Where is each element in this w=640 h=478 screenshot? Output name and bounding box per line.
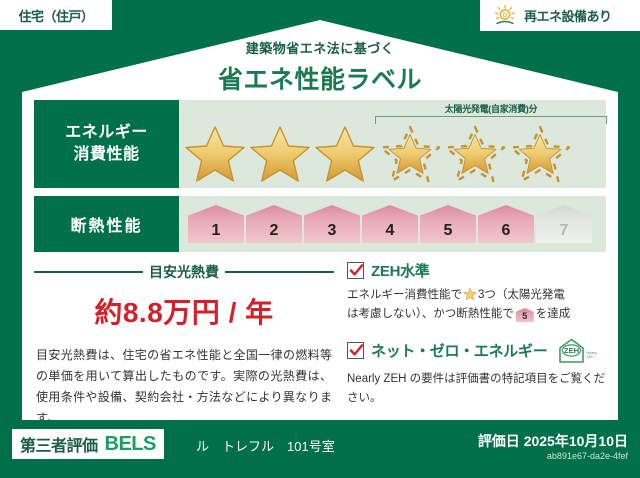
zeh-column: ZEH水準 エネルギー消費性能で3つ（太陽光発電 は考慮しない）、かつ断熱性能で… — [347, 260, 606, 410]
bels-certification-box: 第三者評価 BELS — [12, 429, 164, 459]
solar-annotation-label: 太陽光発電(自家消費)分 — [375, 102, 607, 115]
footer-bar: 第三者評価 BELS ル トレフル 101号室 評価日 2025年10月10日 … — [0, 420, 640, 478]
insulation-grade-4: 4 — [362, 205, 418, 243]
zeh-standard-body: エネルギー消費性能で3つ（太陽光発電 は考慮しない）、かつ断熱性能で5を達成 — [347, 286, 606, 324]
lower-info-area: 目安光熱費 約8.8万円 / 年 目安光熱費は、住宅の省エネ性能と全国一律の燃料… — [34, 260, 606, 410]
star-icon-solar-6 — [509, 124, 571, 184]
star-icon-solar-5 — [444, 124, 506, 184]
title-subtitle: 建築物省エネ法に基づく — [0, 38, 640, 57]
zeh-body-part1: エネルギー消費性能で — [347, 289, 462, 301]
star-icon-solid-3 — [314, 124, 376, 184]
energy-performance-row: エネルギー 消費性能 — [34, 100, 606, 188]
insulation-performance-row: 断熱性能 1 2 3 4 5 6 7 — [34, 196, 606, 252]
insulation-grade-3: 3 — [304, 205, 360, 243]
zeh-house-logo-icon: ZEH Nearly ZEH — [557, 337, 597, 365]
inline-grade-badge: 5 — [516, 308, 534, 322]
evaluation-date: 評価日 2025年10月10日 — [478, 431, 628, 451]
insulation-grade-7: 7 — [536, 205, 592, 243]
zeh-body-star-count: 3つ（太陽光発電 — [478, 289, 565, 301]
category-tag: 住宅（住戸） — [0, 0, 112, 30]
content-panel: エネルギー 消費性能 — [34, 100, 606, 410]
insulation-grade-5: 5 — [420, 205, 476, 243]
insulation-label-text: 断熱性能 — [70, 212, 142, 236]
energy-label-line1: エネルギー — [65, 122, 148, 144]
heading-rule-right — [225, 271, 334, 273]
utility-cost-column: 目安光熱費 約8.8万円 / 年 目安光熱費は、住宅の省エネ性能と全国一律の燃料… — [34, 260, 334, 410]
renewable-energy-badge: D 再エネ設備あり — [480, 0, 640, 31]
check-icon — [349, 343, 364, 358]
star-icon-solid-1 — [184, 124, 246, 184]
svg-text:ZEH: ZEH — [564, 346, 579, 355]
net-zero-energy-header: ネット・ゼロ・エネルギー ZEH Nearly ZEH — [347, 337, 606, 365]
checkbox-checked-net-zero[interactable] — [347, 342, 364, 359]
check-icon — [349, 263, 364, 278]
utility-cost-heading: 目安光熱費 — [34, 262, 334, 282]
checkbox-checked-zeh-standard[interactable] — [347, 262, 364, 279]
insulation-grade-2: 2 — [246, 205, 302, 243]
utility-cost-description: 目安光熱費は、住宅の省エネ性能と全国一律の燃料等の単価を用いて算出したものです。… — [34, 345, 334, 429]
utility-cost-value: 約8.8万円 / 年 — [34, 291, 334, 331]
utility-cost-heading-text: 目安光熱費 — [149, 262, 219, 282]
zeh-body-part2: は考慮しない）、かつ断熱性能で — [347, 308, 514, 320]
sun-icon: D — [492, 4, 518, 28]
heading-rule-left — [34, 271, 143, 273]
insulation-grade-6: 6 — [478, 205, 534, 243]
svg-text:ZEH: ZEH — [587, 355, 595, 359]
evaluation-id: ab891e67-da2e-4fef — [547, 451, 628, 461]
zeh-standard-item: ZEH水準 エネルギー消費性能で3つ（太陽光発電 は考慮しない）、かつ断熱性能で… — [347, 260, 606, 324]
energy-label-line2: 消費性能 — [73, 144, 139, 166]
solar-annotation: 太陽光発電(自家消費)分 — [375, 102, 607, 124]
net-zero-energy-item: ネット・ゼロ・エネルギー ZEH Nearly ZEH Nearly ZEH の… — [347, 337, 606, 408]
insulation-performance-label: 断熱性能 — [34, 196, 179, 252]
net-zero-energy-title: ネット・ゼロ・エネルギー — [371, 340, 547, 361]
net-zero-energy-body: Nearly ZEH の要件は評価書の特記項目をご覧ください。 — [347, 370, 606, 408]
zeh-body-part3: を達成 — [536, 308, 571, 320]
zeh-standard-header: ZEH水準 — [347, 260, 606, 281]
energy-label-card: 住宅（住戸） D 再エネ設備あり 建築物省エネ法に基づく 省エネ性能ラベル — [0, 0, 640, 478]
star-rating-group: 太陽光発電(自家消費)分 — [179, 100, 606, 188]
renewable-badge-label: 再エネ設備あり — [524, 6, 612, 25]
property-name: ル トレフル 101号室 — [196, 436, 335, 455]
bels-logo-text: BELS — [105, 433, 156, 456]
star-icon-solar-4 — [379, 124, 441, 184]
svg-text:D: D — [503, 13, 508, 19]
energy-performance-label: エネルギー 消費性能 — [34, 100, 179, 188]
third-party-label: 第三者評価 — [20, 432, 98, 456]
solar-annotation-bracket — [375, 116, 607, 124]
star-icon-solid-2 — [249, 124, 311, 184]
zeh-standard-title: ZEH水準 — [371, 260, 430, 281]
inline-star-icon — [463, 287, 477, 301]
category-tag-label: 住宅（住戸） — [18, 6, 93, 25]
insulation-grade-1: 1 — [188, 205, 244, 243]
insulation-grade-group: 1 2 3 4 5 6 7 — [184, 196, 606, 252]
page-title: 省エネ性能ラベル — [0, 60, 640, 96]
title-block: 建築物省エネ法に基づく 省エネ性能ラベル — [0, 38, 640, 96]
